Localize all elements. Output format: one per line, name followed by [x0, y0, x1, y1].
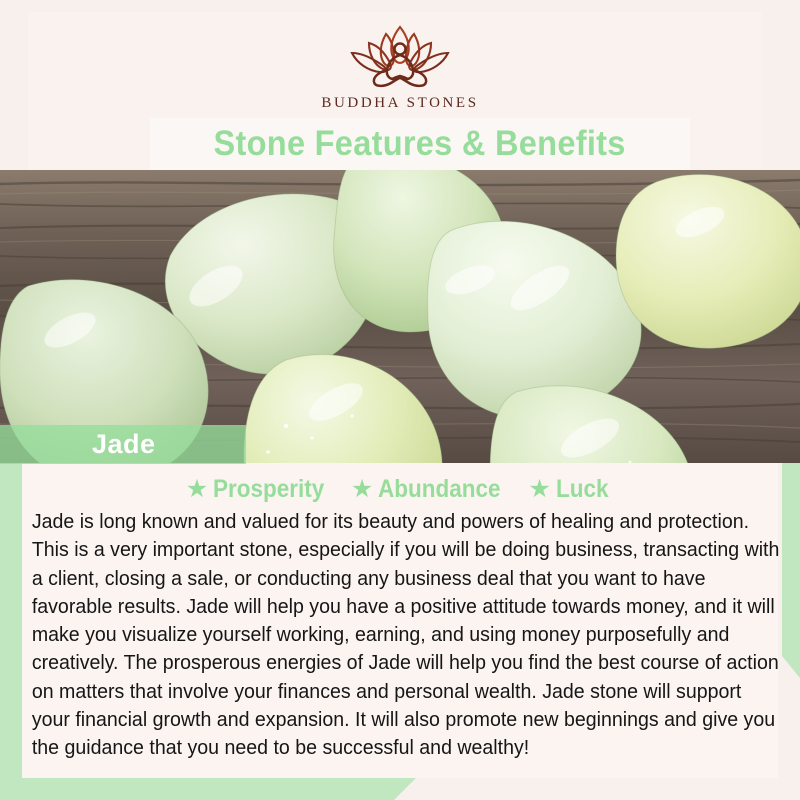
stone-description-panel: ★ Prosperity ★ Abundance ★ Luck Jade is …	[22, 463, 778, 778]
star-icon: ★	[351, 477, 373, 502]
stone-name-label: Jade	[92, 429, 156, 460]
brand-name: BUDDHA STONES	[321, 95, 478, 112]
benefit-label: Prosperity	[213, 475, 324, 504]
benefits-row: ★ Prosperity ★ Abundance ★ Luck	[28, 475, 772, 504]
star-icon: ★	[186, 477, 208, 502]
brand-logo: BUDDHA STONES	[321, 22, 478, 112]
stone-description-text: Jade is long known and valued for its be…	[28, 508, 788, 763]
benefit-label: Abundance	[378, 475, 501, 504]
benefit-label: Luck	[556, 475, 609, 504]
benefit-item: ★ Prosperity	[186, 475, 337, 504]
stone-name-band: Jade	[0, 425, 246, 464]
benefit-item: ★ Luck	[528, 475, 614, 504]
benefit-item: ★ Abundance	[351, 475, 515, 504]
section-title-banner: Stone Features & Benefits	[150, 118, 690, 170]
lotus-meditation-icon	[344, 22, 456, 88]
jade-stones-photo	[0, 170, 800, 463]
star-icon: ★	[528, 477, 550, 502]
jade-stones-illustration	[0, 170, 800, 463]
section-title: Stone Features & Benefits	[214, 124, 626, 164]
